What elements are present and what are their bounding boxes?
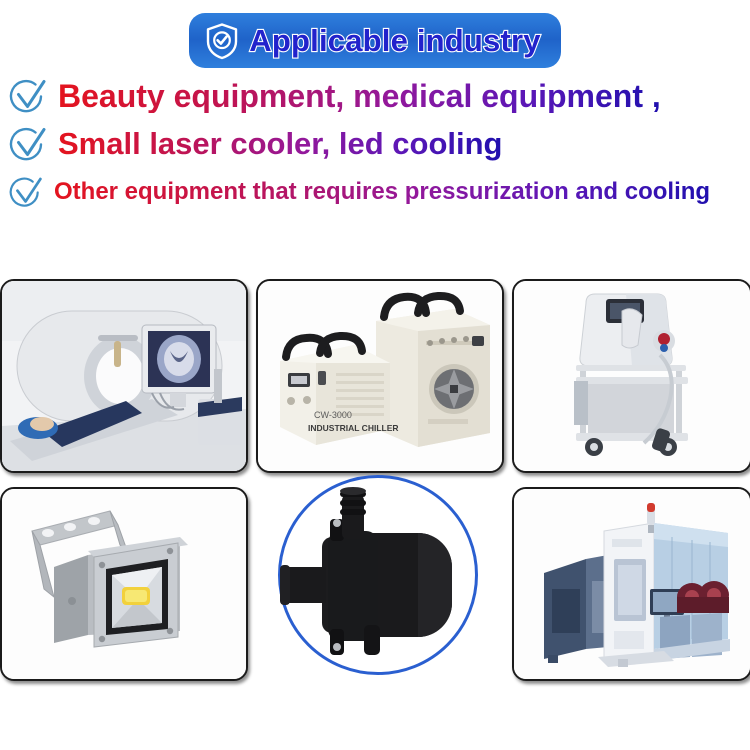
circle-check-icon: [8, 124, 48, 164]
gallery-cell-industrial-chiller[interactable]: CW-3000 INDUSTRIAL CHILLER: [256, 279, 504, 473]
chiller-sub-label: INDUSTRIAL CHILLER: [308, 423, 399, 433]
circle-check-icon: [8, 174, 44, 210]
industrial-chiller-image: CW-3000 INDUSTRIAL CHILLER: [258, 281, 502, 471]
water-pump-image: [256, 475, 500, 687]
header-banner: Applicable industry: [0, 13, 750, 68]
application-gallery: CW-3000 INDUSTRIAL CHILLER: [0, 277, 750, 689]
chiller-model-label: CW-3000: [314, 410, 352, 420]
shield-check-icon: [205, 22, 239, 60]
gallery-cell-beauty-laser-machine[interactable]: [512, 279, 750, 473]
bullet-text-1: Small laser cooler, led cooling: [58, 127, 503, 160]
ct-scanner-image: [2, 281, 246, 471]
gallery-cell-semiconductor-machine[interactable]: [512, 487, 750, 681]
bullet-item-0: Beauty equipment, medical equipment ,: [8, 76, 750, 116]
gallery-cell-led-floodlight[interactable]: [0, 487, 248, 681]
semiconductor-machine-image: [514, 489, 750, 679]
gallery-cell-water-pump[interactable]: [256, 475, 500, 687]
banner-pill: Applicable industry: [189, 13, 560, 68]
bullet-text-2: Other equipment that requires pressuriza…: [54, 179, 710, 205]
led-floodlight-image: [2, 489, 246, 679]
banner-title: Applicable industry: [249, 23, 540, 59]
bullet-text-0: Beauty equipment, medical equipment ,: [58, 79, 661, 114]
bullet-item-1: Small laser cooler, led cooling: [8, 124, 750, 164]
bullet-item-2: Other equipment that requires pressuriza…: [8, 174, 750, 210]
circle-check-icon: [8, 76, 48, 116]
gallery-cell-ct-scanner[interactable]: [0, 279, 248, 473]
bullet-list: Beauty equipment, medical equipment , Sm…: [0, 76, 750, 210]
beauty-laser-machine-image: [514, 281, 750, 471]
